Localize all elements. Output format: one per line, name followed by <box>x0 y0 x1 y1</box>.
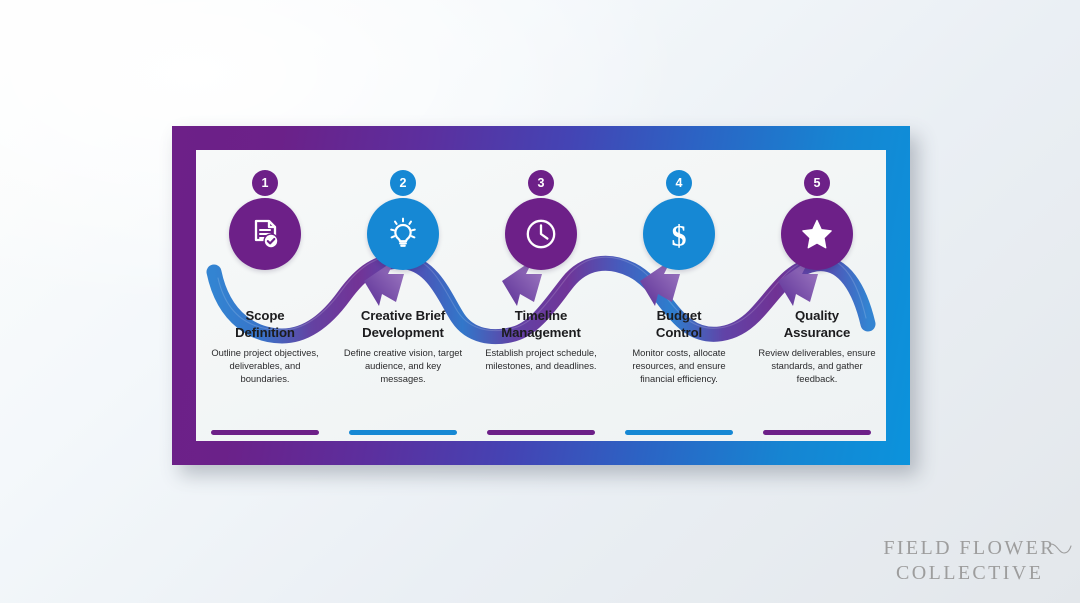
step-title-line2-2: Development <box>362 325 444 340</box>
step-title-line1-2: Creative Brief <box>361 308 445 323</box>
step-number-3: 3 <box>538 177 545 190</box>
dollar-sign-icon: $ <box>643 198 715 270</box>
step-description-3: Establish project schedule, milestones, … <box>480 347 602 373</box>
lightbulb-icon <box>367 198 439 270</box>
watermark-swash-icon <box>1050 542 1072 556</box>
step-underline-bar-4 <box>625 430 733 435</box>
watermark-line-1-text: FIELD FLOWER <box>883 537 1056 559</box>
watermark-line-2: COLLECTIVE <box>883 561 1056 585</box>
step-number-badge-1: 1 <box>252 170 278 196</box>
step-title-1: Scope Definition <box>201 308 329 342</box>
step-title-2: Creative Brief Development <box>339 308 467 342</box>
step-title-line2-1: Definition <box>235 325 295 340</box>
step-icon-cluster-4: 4 $ <box>643 198 715 270</box>
step-number-badge-4: 4 <box>666 170 692 196</box>
step-title-line2-3: Management <box>501 325 581 340</box>
step-number-5: 5 <box>814 177 821 190</box>
step-item-4[interactable]: 4 $ Budget Control Monitor costs, alloca… <box>610 150 748 441</box>
steps-row: 1 <box>196 150 886 441</box>
clock-icon <box>505 198 577 270</box>
step-number-1: 1 <box>262 177 269 190</box>
step-item-1[interactable]: 1 <box>196 150 334 441</box>
step-title-line1-4: Budget <box>657 308 702 323</box>
svg-text:$: $ <box>672 220 687 253</box>
document-check-icon <box>229 198 301 270</box>
step-description-1: Outline project objectives, deliverables… <box>204 347 326 386</box>
step-number-4: 4 <box>676 177 683 190</box>
step-title-line1-5: Quality <box>795 308 839 323</box>
watermark: FIELD FLOWER COLLECTIVE <box>883 536 1056 585</box>
step-icon-cluster-5: 5 <box>781 198 853 270</box>
step-number-2: 2 <box>400 177 407 190</box>
step-number-badge-3: 3 <box>528 170 554 196</box>
step-icon-cluster-2: 2 <box>367 198 439 270</box>
step-title-line2-4: Control <box>656 325 702 340</box>
step-description-5: Review deliverables, ensure standards, a… <box>756 347 878 386</box>
step-number-badge-5: 5 <box>804 170 830 196</box>
watermark-line-1: FIELD FLOWER <box>883 536 1056 560</box>
step-underline-bar-5 <box>763 430 871 435</box>
step-number-badge-2: 2 <box>390 170 416 196</box>
step-title-5: Quality Assurance <box>753 308 881 342</box>
step-title-4: Budget Control <box>615 308 743 342</box>
step-underline-bar-1 <box>211 430 319 435</box>
step-item-2[interactable]: 2 <box>334 150 472 441</box>
step-description-4: Monitor costs, allocate resources, and e… <box>618 347 740 386</box>
step-title-line1-1: Scope <box>245 308 284 323</box>
step-title-3: Timeline Management <box>477 308 605 342</box>
step-icon-cluster-1: 1 <box>229 198 301 270</box>
step-title-line2-5: Assurance <box>784 325 851 340</box>
infographic-panel: 1 <box>196 150 886 441</box>
star-icon <box>781 198 853 270</box>
step-item-5[interactable]: 5 Quality Assurance Review deliverables,… <box>748 150 886 441</box>
step-description-2: Define creative vision, target audience,… <box>342 347 464 386</box>
step-underline-bar-3 <box>487 430 595 435</box>
step-title-line1-3: Timeline <box>515 308 567 323</box>
step-item-3[interactable]: 3 Timeline Management Establish project … <box>472 150 610 441</box>
process-infographic-card: 1 <box>172 126 910 465</box>
step-underline-bar-2 <box>349 430 457 435</box>
step-icon-cluster-3: 3 <box>505 198 577 270</box>
